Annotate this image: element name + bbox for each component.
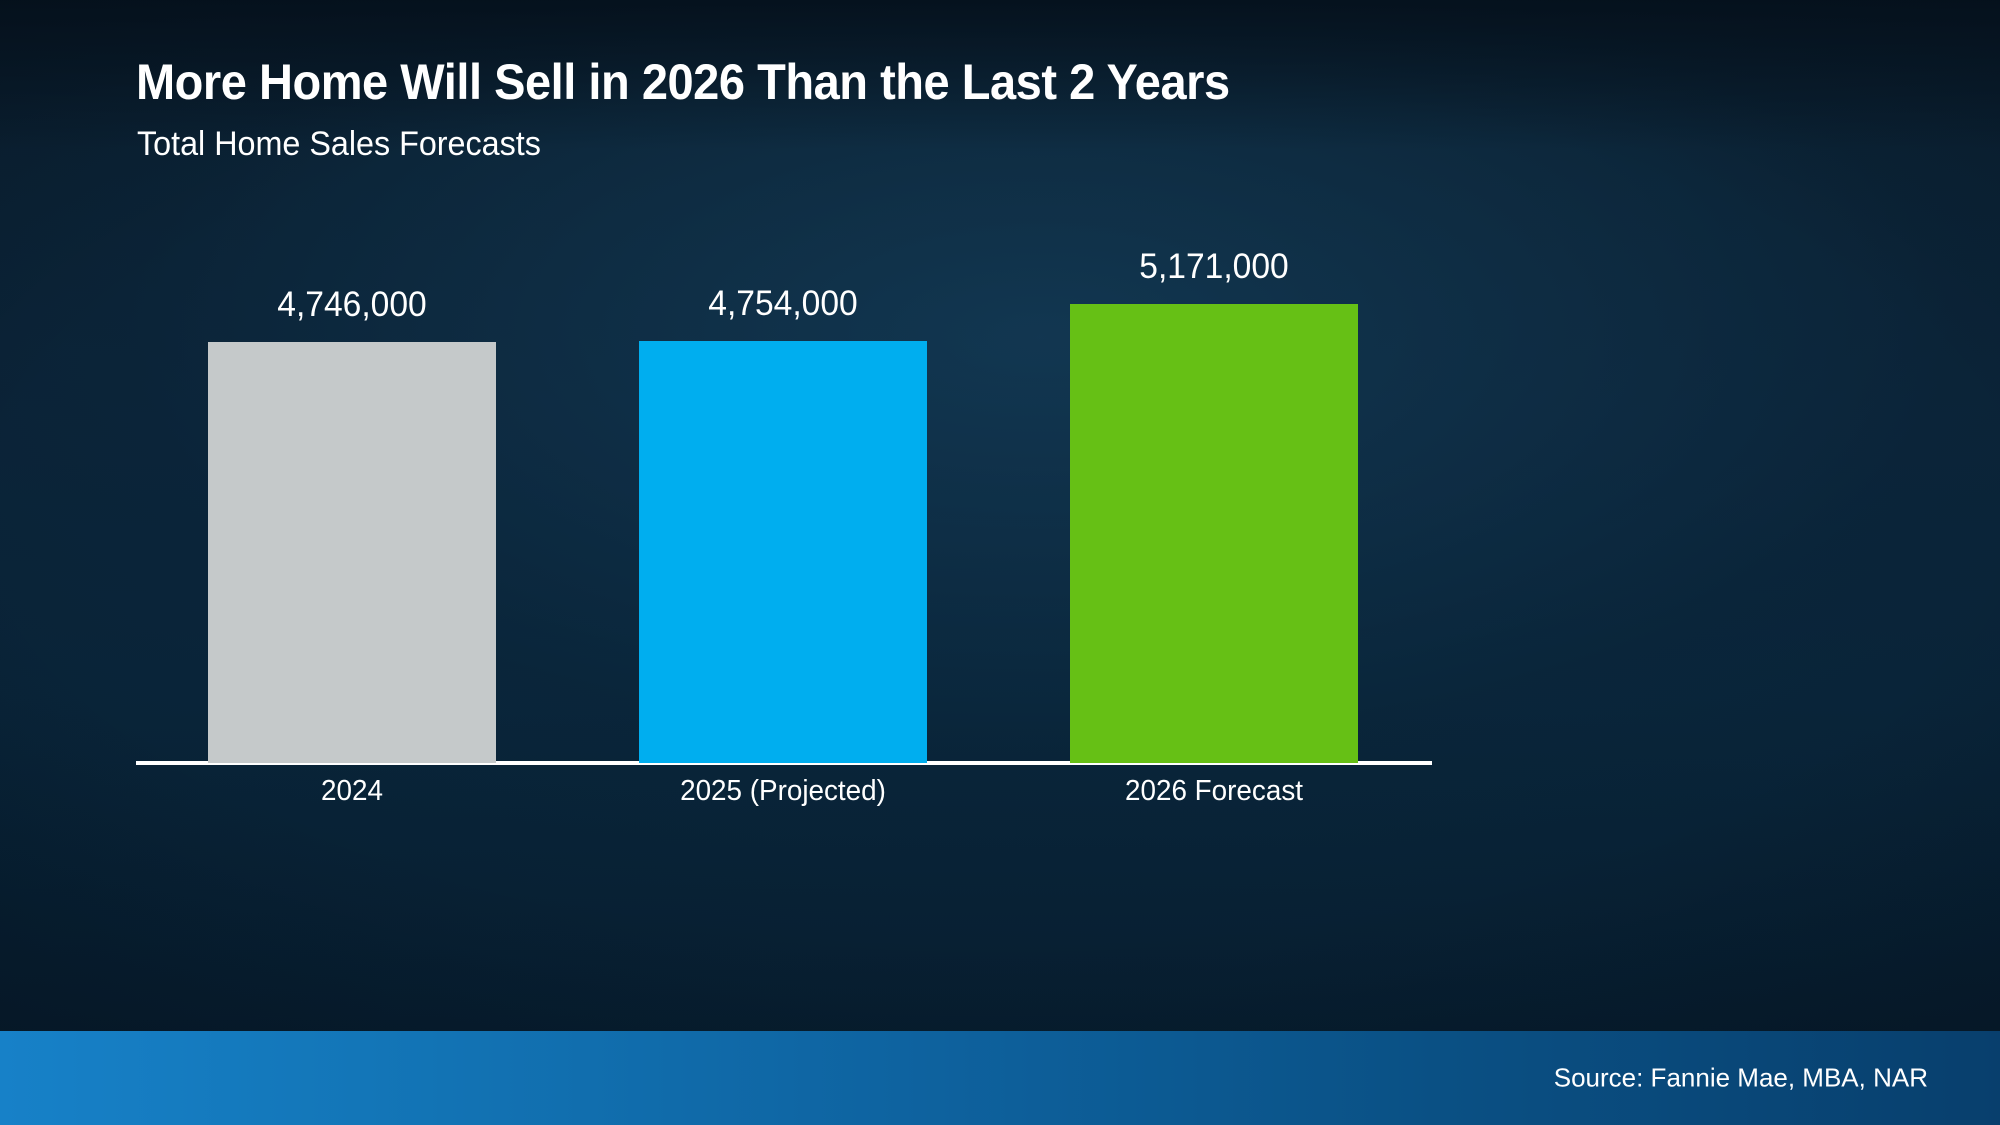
category-label-3: 2026 Forecast — [970, 775, 1458, 808]
bar-value-label-2: 4,754,000 — [587, 284, 979, 324]
slide-canvas: More Home Will Sell in 2026 Than the Las… — [0, 0, 2000, 1125]
category-label-2: 2025 (Projected) — [539, 775, 1027, 808]
bar-3 — [1070, 304, 1358, 763]
source-note: Source: Fannie Mae, MBA, NAR — [1554, 1063, 1928, 1094]
bar-chart-plot: 4,746,00020244,754,0002025 (Projected)5,… — [0, 0, 2000, 1125]
bar-2 — [639, 341, 927, 763]
bar-1 — [208, 342, 496, 763]
footer-bar: Source: Fannie Mae, MBA, NAR — [0, 1031, 2000, 1125]
bar-value-label-1: 4,746,000 — [156, 285, 548, 325]
category-label-1: 2024 — [108, 775, 596, 808]
bar-value-label-3: 5,171,000 — [1018, 247, 1410, 287]
